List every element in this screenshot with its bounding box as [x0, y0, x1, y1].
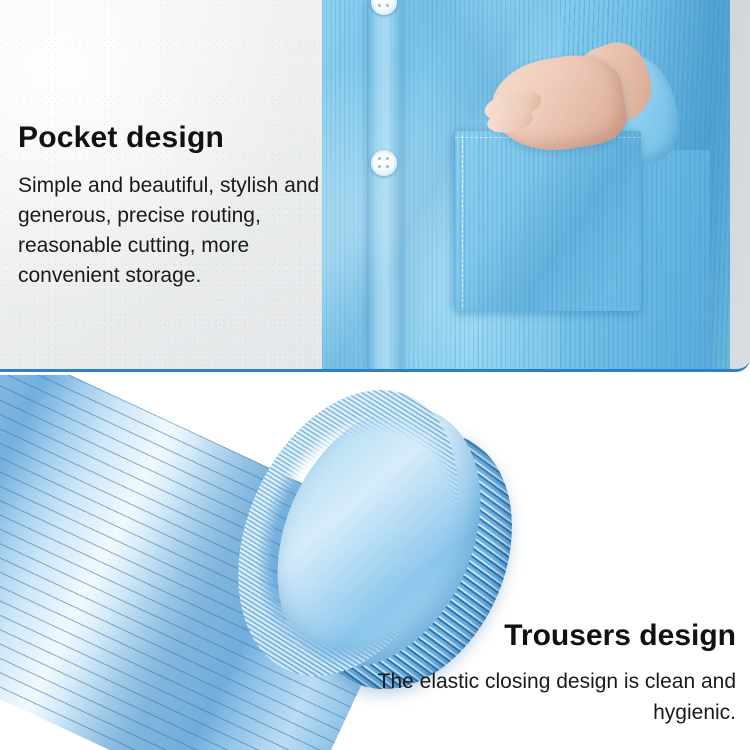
pocket-design-description: Simple and beautiful, stylish and genero… — [18, 171, 338, 291]
trousers-design-title: Trousers design — [504, 619, 736, 653]
product-detail-image: Pocket design Simple and beautiful, styl… — [0, 0, 750, 750]
shirt-button-second — [371, 150, 397, 176]
trousers-design-panel: Trousers design The elastic closing desi… — [0, 375, 750, 750]
pocket-design-title: Pocket design — [18, 121, 224, 155]
pocket-text-card: Pocket design Simple and beautiful, styl… — [0, 0, 322, 369]
patch-pocket — [455, 131, 641, 311]
pocket-design-panel: Pocket design Simple and beautiful, styl… — [0, 0, 750, 372]
trousers-design-description: The elastic closing design is clean and … — [316, 666, 736, 728]
button-placket — [368, 0, 402, 369]
